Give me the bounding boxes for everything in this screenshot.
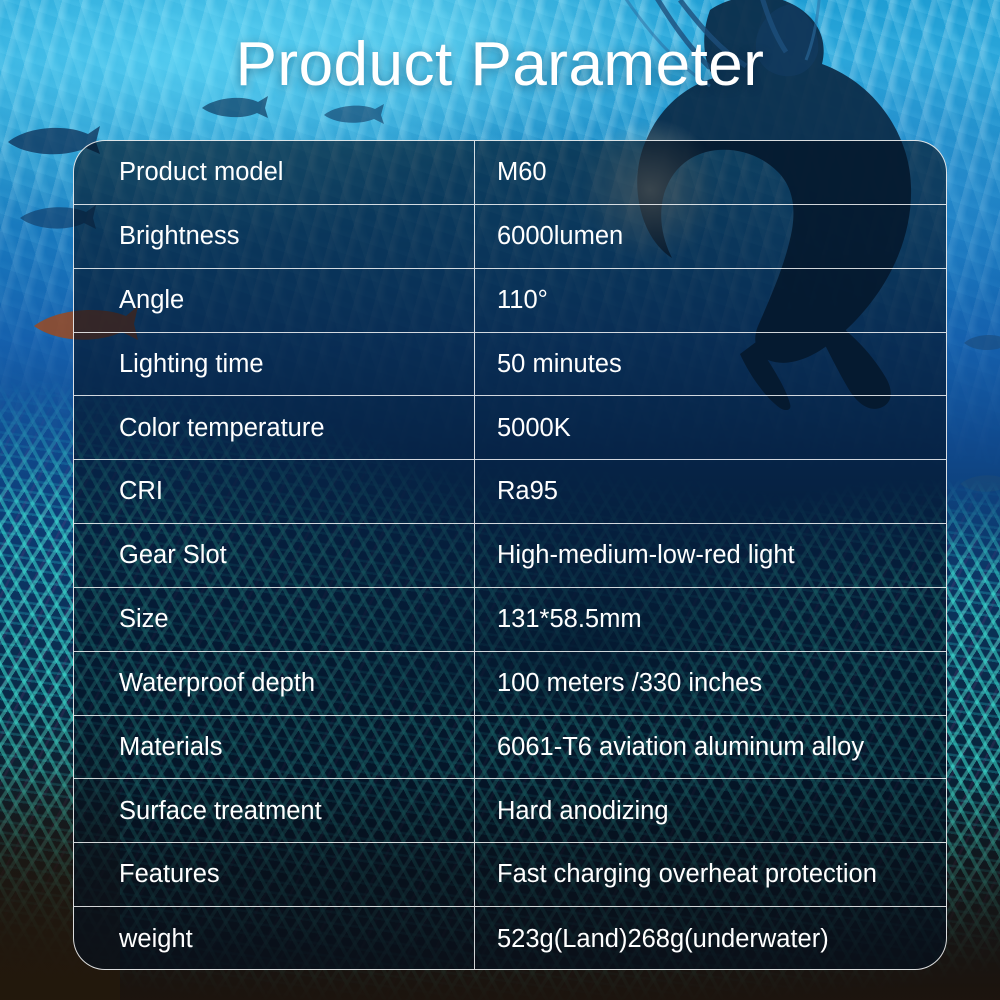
spec-label-cell: Lighting time — [74, 333, 475, 396]
spec-label-cell: Gear Slot — [74, 524, 475, 587]
spec-value-cell: High-medium-low-red light — [475, 524, 946, 587]
spec-label-cell: Size — [74, 588, 475, 651]
spec-label-cell: Materials — [74, 716, 475, 779]
spec-value-cell: 131*58.5mm — [475, 588, 946, 651]
spec-value-cell: M60 — [475, 141, 946, 204]
table-row: Lighting time50 minutes — [74, 333, 946, 397]
table-row: weight523g(Land)268g(underwater) — [74, 907, 946, 970]
spec-label-cell: Features — [74, 843, 475, 906]
spec-value-cell: Fast charging overheat protection — [475, 843, 946, 906]
spec-label-cell: Brightness — [74, 205, 475, 268]
table-row: Gear SlotHigh-medium-low-red light — [74, 524, 946, 588]
table-row: Waterproof depth100 meters /330 inches — [74, 652, 946, 716]
table-row: Brightness6000lumen — [74, 205, 946, 269]
spec-label-cell: CRI — [74, 460, 475, 523]
page-title: Product Parameter — [0, 24, 1000, 106]
spec-value-cell: 6061-T6 aviation aluminum alloy — [475, 716, 946, 779]
table-row: Color temperature5000K — [74, 396, 946, 460]
spec-value-cell: 523g(Land)268g(underwater) — [475, 907, 946, 970]
product-parameter-page: Product Parameter Product modelM60Bright… — [0, 0, 1000, 1000]
spec-label-cell: Waterproof depth — [74, 652, 475, 715]
spec-label-cell: Product model — [74, 141, 475, 204]
spec-label-cell: weight — [74, 907, 475, 970]
spec-value-cell: 6000lumen — [475, 205, 946, 268]
table-row: FeaturesFast charging overheat protectio… — [74, 843, 946, 907]
fish-icon — [962, 330, 1000, 354]
spec-label-cell: Angle — [74, 269, 475, 332]
table-row: Size131*58.5mm — [74, 588, 946, 652]
product-parameter-table: Product modelM60Brightness6000lumenAngle… — [73, 140, 947, 970]
spec-value-cell: 110° — [475, 269, 946, 332]
table-row: Materials6061-T6 aviation aluminum alloy — [74, 716, 946, 780]
spec-label-cell: Color temperature — [74, 396, 475, 459]
spec-value-cell: Hard anodizing — [475, 779, 946, 842]
spec-label-cell: Surface treatment — [74, 779, 475, 842]
table-row: Product modelM60 — [74, 141, 946, 205]
spec-value-cell: 5000K — [475, 396, 946, 459]
table-row: Surface treatmentHard anodizing — [74, 779, 946, 843]
table-row: CRIRa95 — [74, 460, 946, 524]
table-row: Angle110° — [74, 269, 946, 333]
spec-value-cell: 100 meters /330 inches — [475, 652, 946, 715]
spec-value-cell: 50 minutes — [475, 333, 946, 396]
spec-value-cell: Ra95 — [475, 460, 946, 523]
